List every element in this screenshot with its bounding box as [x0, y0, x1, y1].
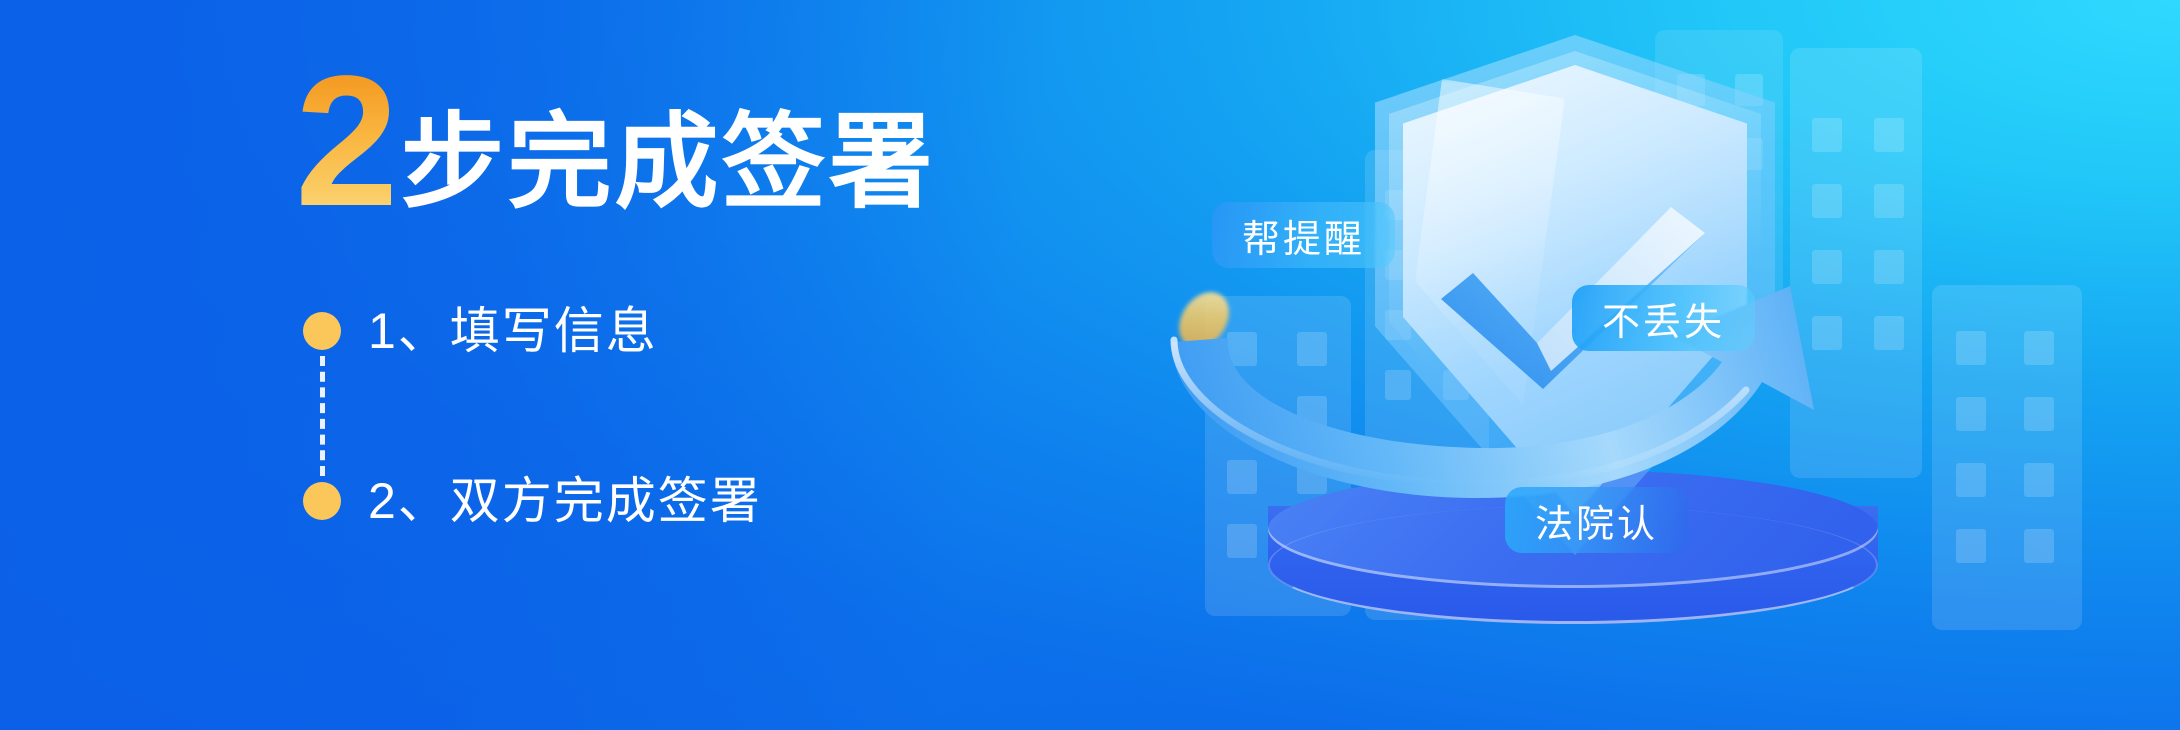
bullet-dot-icon — [303, 482, 341, 520]
promo-banner: 2 步完成签署 1、填写信息 2、双方完成签署 — [0, 0, 2180, 730]
bullet-dot-icon — [303, 312, 341, 350]
feature-pill-court[interactable]: 法院认 — [1505, 487, 1688, 553]
headline-title: 步完成签署 — [400, 111, 935, 222]
steps-list: 1、填写信息 2、双方完成签署 — [295, 300, 1075, 532]
step-dashed-connector — [320, 356, 325, 476]
headline: 2 步完成签署 — [295, 62, 1075, 222]
list-item: 1、填写信息 — [303, 300, 1075, 362]
feature-pill-no-lost[interactable]: 不丢失 — [1572, 285, 1755, 351]
list-item: 2、双方完成签署 — [303, 470, 1075, 532]
headline-number: 2 — [295, 62, 400, 222]
step-label: 1、填写信息 — [368, 306, 658, 356]
step-label: 2、双方完成签署 — [368, 476, 762, 526]
building-silhouette-icon — [1932, 285, 2082, 630]
feature-pill-remind[interactable]: 帮提醒 — [1212, 202, 1395, 268]
illustration: 帮提醒 不丢失 法院认 — [1150, 0, 2180, 730]
left-text-block: 2 步完成签署 1、填写信息 2、双方完成签署 — [295, 62, 1075, 662]
